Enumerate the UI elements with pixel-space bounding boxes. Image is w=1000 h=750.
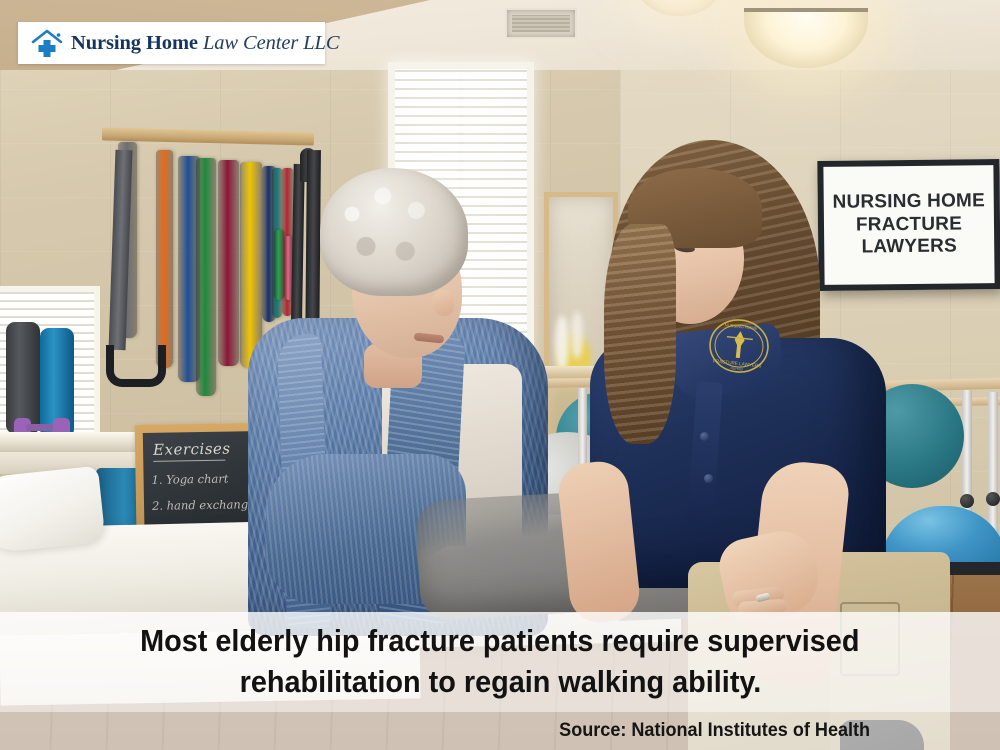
patient-hair [320,168,468,296]
therapist-button-2 [704,474,713,483]
caption-line-1: Most elderly hip fracture patients requi… [140,621,859,662]
therapist-hair-side [604,224,676,444]
therapist-shirt-logo-icon: NURSING HOME FRACTURE LAWYERS REHAB [705,315,773,377]
brand-logo[interactable]: Nursing Home Law Center LLC [18,22,325,64]
patient-nose [432,290,454,316]
house-medical-cross-icon [30,28,64,58]
logo-text-bold: Nursing Home [71,32,198,54]
pillow-white [0,466,106,555]
source-overlay: Source: National Institutes of Health [0,712,1000,750]
caption-line-2: rehabilitation to regain walking ability… [239,662,761,703]
therapist-button-1 [700,432,709,441]
parallel-bar-knob-2 [986,492,1000,506]
source-label: Source: National Institutes of Health [559,720,870,742]
physical-therapist: NURSING HOME FRACTURE LAWYERS REHAB [578,132,958,632]
chalkboard-title: Exercises [153,440,231,459]
trx-handle [106,345,166,387]
screenshot-root: Exercises 1. Yoga chart 2. hand exchange… [0,0,1000,750]
logo-text-italic: Law Center LLC [203,32,339,54]
ceiling-vent-icon [505,8,577,39]
orange-band [156,150,173,368]
green-band [196,158,216,396]
parallel-bar-knob-1 [960,494,974,508]
caption-overlay: Most elderly hip fracture patients requi… [0,612,1000,712]
chalkboard-item-1: 1. Yoga chart [151,472,228,487]
